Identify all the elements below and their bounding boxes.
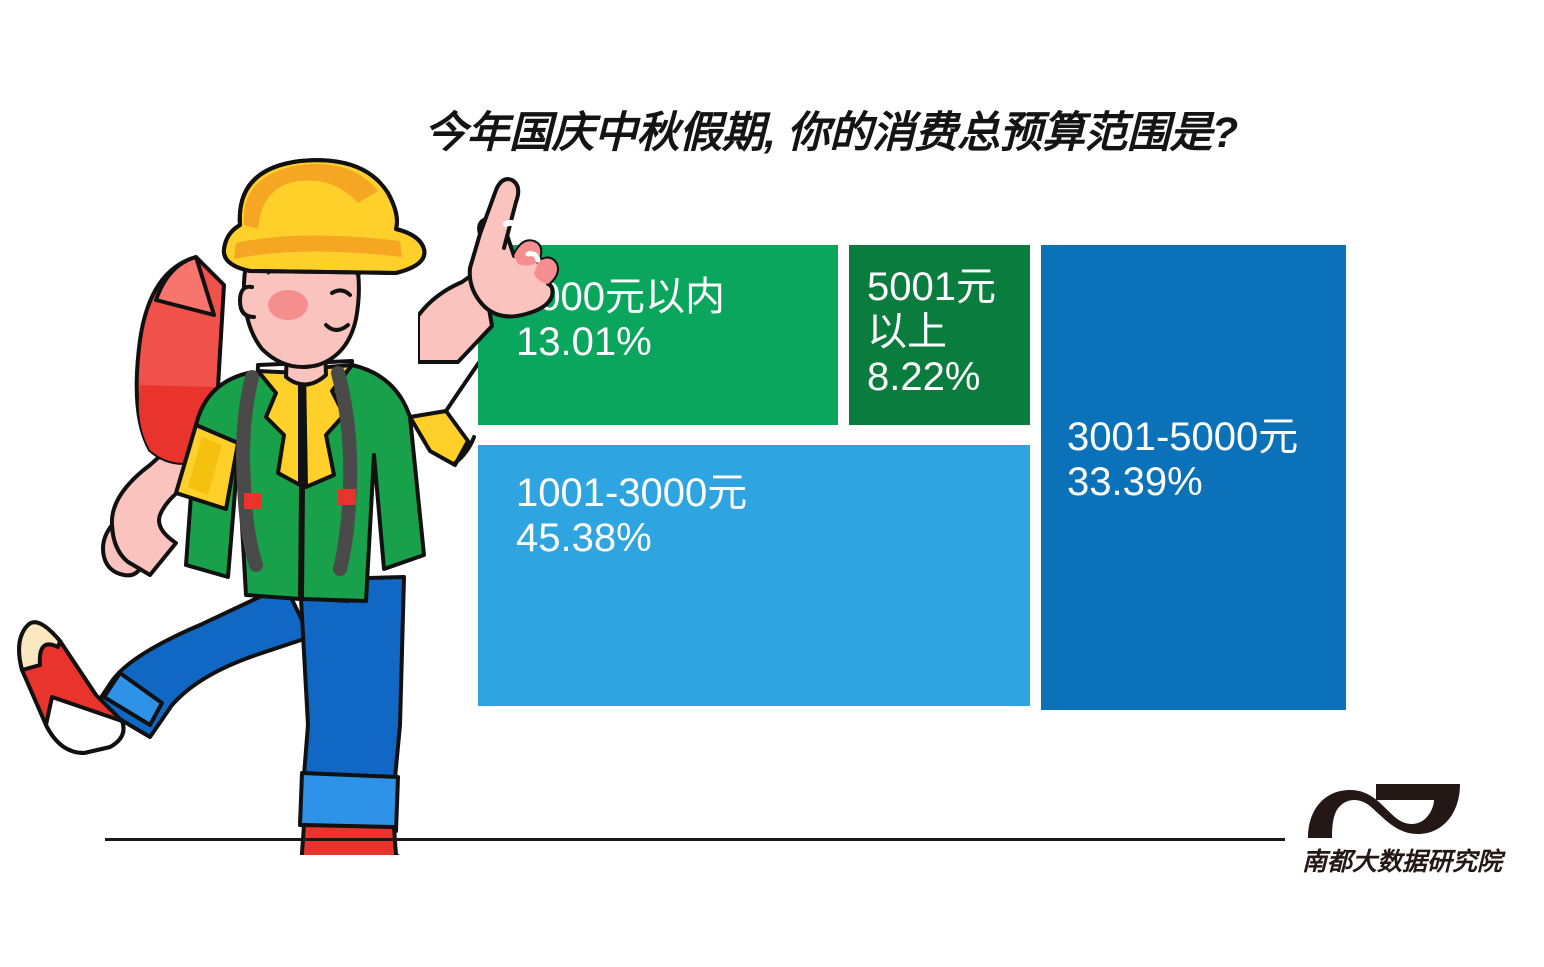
treemap-tile-3001-5000[interactable]: 3001-5000元 33.39%	[1041, 245, 1346, 710]
traveler-illustration	[0, 125, 480, 855]
brand-logo-text: 南都大数据研究院	[1302, 842, 1472, 878]
brand-logo: 南都大数据研究院	[1296, 782, 1476, 882]
treemap-tile-5001-up[interactable]: 5001元 以上 8.22%	[849, 245, 1030, 425]
pointing-hand-illustration	[418, 176, 568, 366]
page-title: 今年国庆中秋假期, 你的消费总预算范围是?	[424, 108, 1424, 160]
ground-line	[105, 838, 1285, 841]
infographic-canvas: 1000元以内 13.01% 5001元 以上 8.22% 1001-3000元…	[0, 0, 1544, 967]
treemap-tile-5001-up-label: 5001元 以上 8.22%	[867, 265, 996, 399]
nandu-wave-logo-icon	[1306, 782, 1462, 840]
treemap-tile-3001-5000-label: 3001-5000元 33.39%	[1067, 415, 1298, 505]
treemap-tile-1001-3000-label: 1001-3000元 45.38%	[516, 471, 747, 561]
treemap-tile-1001-3000[interactable]: 1001-3000元 45.38%	[478, 445, 1030, 706]
